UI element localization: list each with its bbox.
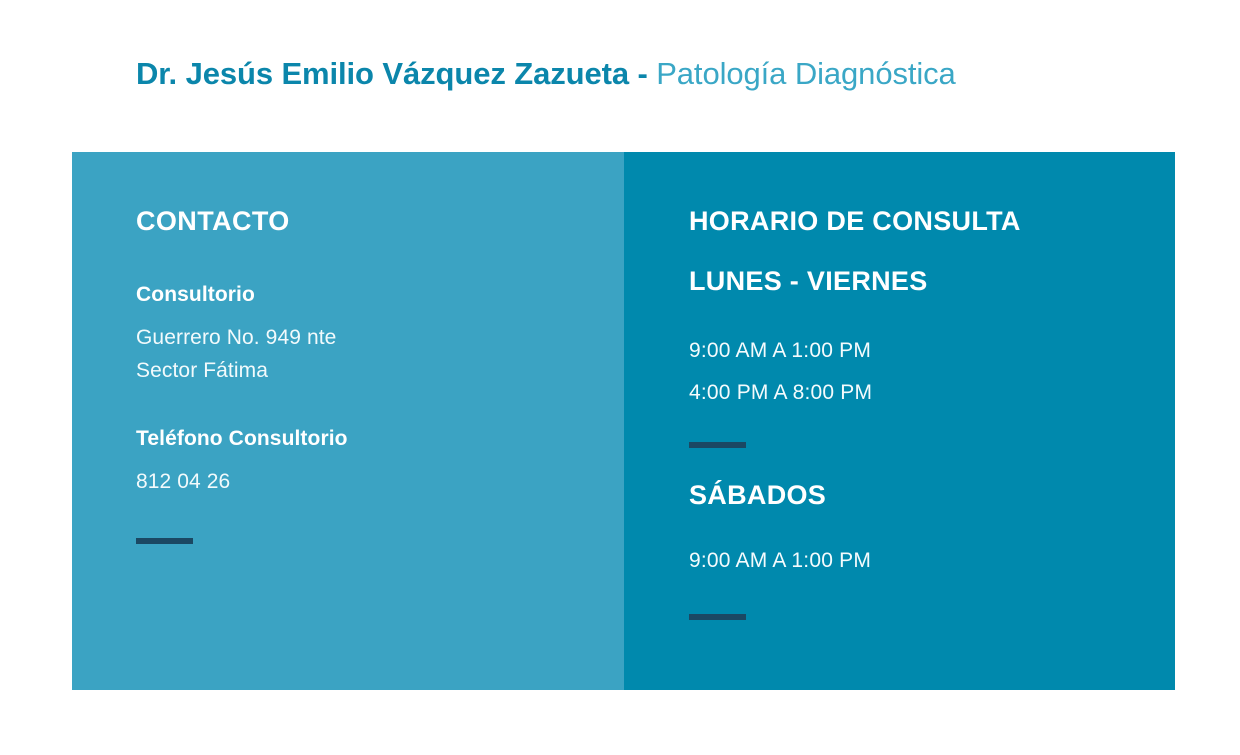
spacer [689,298,1175,330]
office-address-line-1: Guerrero No. 949 nte [136,321,624,354]
office-label: Consultorio [136,280,624,310]
weekdays-label: LUNES - VIERNES [689,264,1175,298]
hours-heading: HORARIO DE CONSULTA [689,204,1175,238]
spacer [689,238,1175,264]
page-title: Dr. Jesús Emilio Vázquez Zazueta - Patol… [136,52,956,96]
spacer [689,582,1175,614]
doctor-name: Dr. Jesús Emilio Vázquez Zazueta - [136,56,648,91]
office-address-line-2: Sector Fátima [136,354,624,387]
spacer [136,454,624,465]
phone-label: Teléfono Consultorio [136,424,624,454]
saturday-divider [689,614,746,620]
spacer [689,448,1175,478]
info-panels: CONTACTO Consultorio Guerrero No. 949 nt… [72,152,1175,690]
spacer [136,238,624,280]
weekday-hours-afternoon: 4:00 PM A 8:00 PM [689,372,1175,414]
contact-heading: CONTACTO [136,204,624,238]
spacer [136,310,624,321]
phone-value[interactable]: 812 04 26 [136,465,624,498]
contact-divider [136,538,193,544]
contact-panel: CONTACTO Consultorio Guerrero No. 949 nt… [72,152,624,690]
spacer [136,387,624,424]
spacer [136,498,624,538]
spacer [689,512,1175,540]
saturday-hours-morning: 9:00 AM A 1:00 PM [689,540,1175,582]
hours-panel: HORARIO DE CONSULTA LUNES - VIERNES 9:00… [624,152,1175,690]
doctor-specialty: Patología Diagnóstica [656,56,955,91]
spacer [689,414,1175,442]
saturday-label: SÁBADOS [689,478,1175,512]
weekday-hours-morning: 9:00 AM A 1:00 PM [689,330,1175,372]
